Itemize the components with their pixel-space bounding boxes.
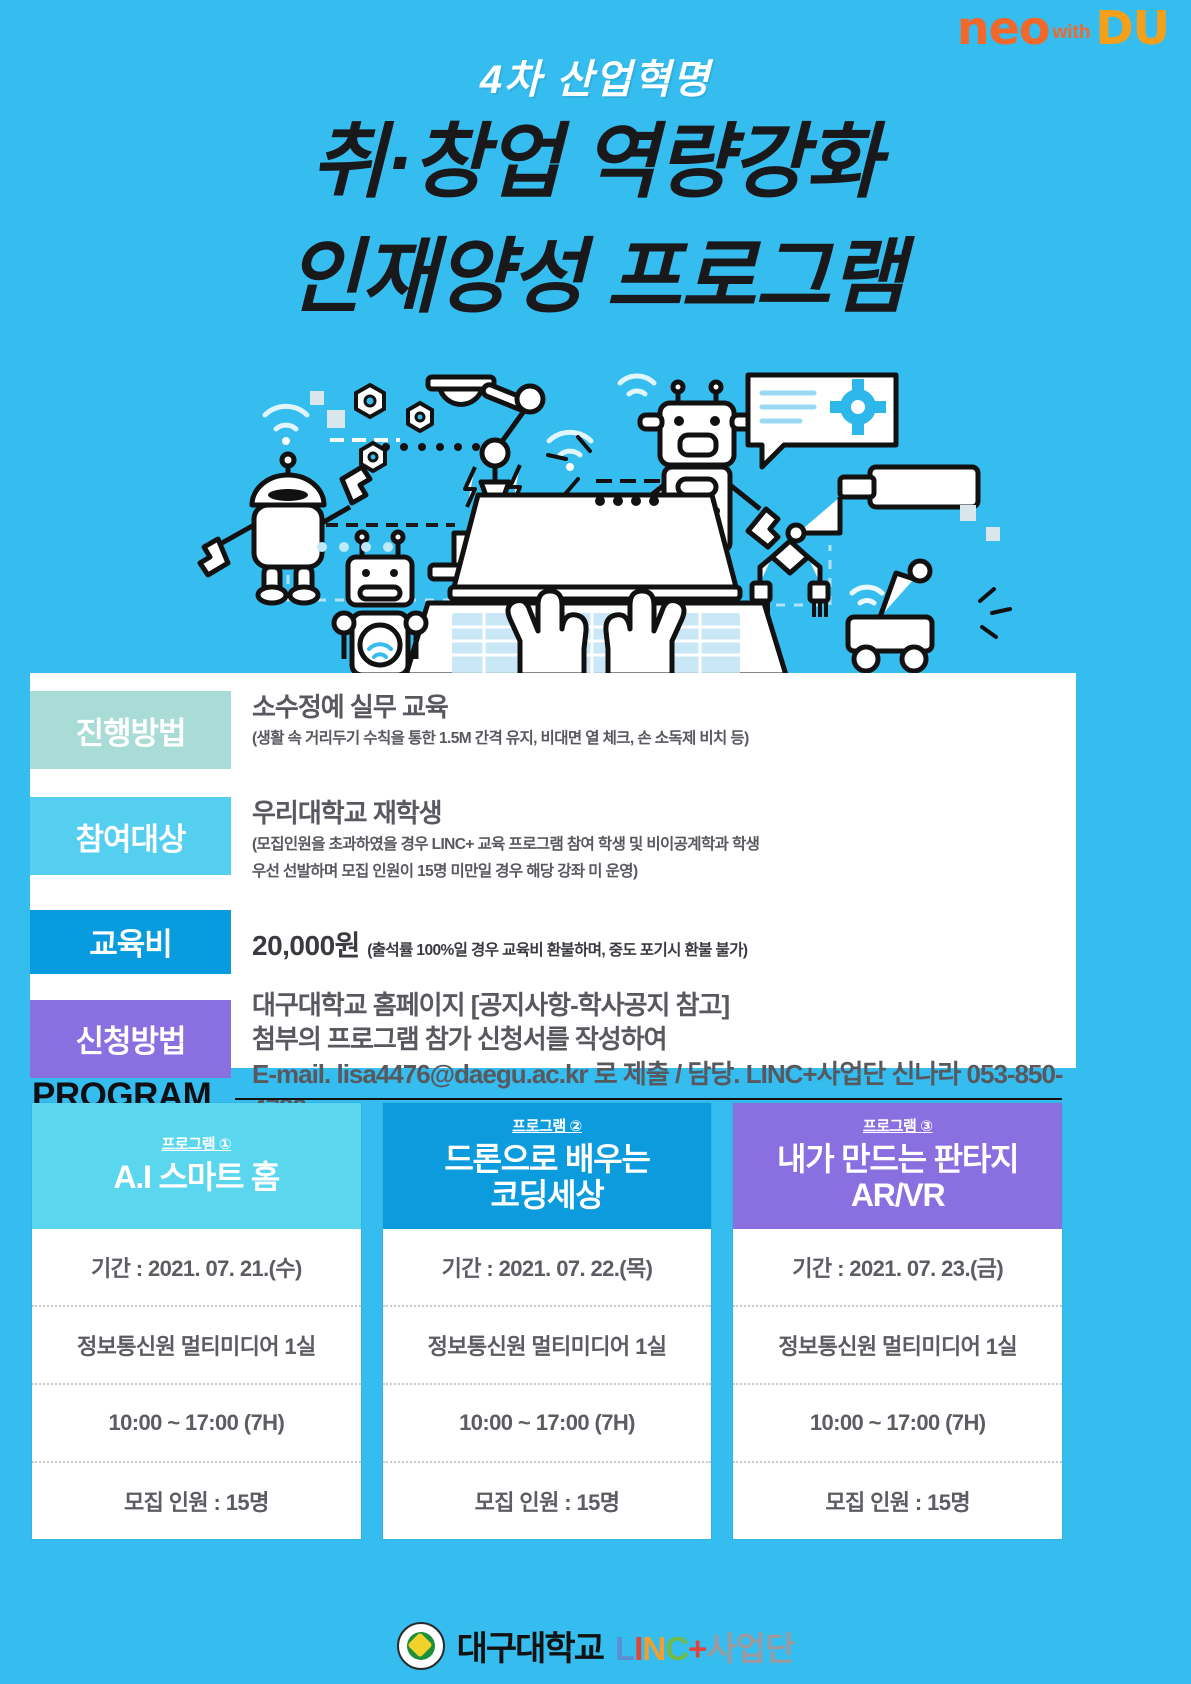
footer-university-name: 대구대학교 xyxy=(457,1621,603,1670)
program-card-1[interactable]: 프로그램 ① A.I 스마트 홈 기간 : 2021. 07. 21.(수) 정… xyxy=(32,1103,361,1539)
card-3-capacity: 모집 인원 : 15명 xyxy=(733,1461,1062,1539)
card-3-kicker: 프로그램 ③ xyxy=(863,1115,933,1136)
card-2-capacity: 모집 인원 : 15명 xyxy=(383,1461,712,1539)
linc-letter-l: L xyxy=(615,1630,634,1667)
tag-apply-wrap: 신청방법 xyxy=(30,1000,231,1078)
card-1-kicker: 프로그램 ① xyxy=(162,1133,232,1154)
tag-target-wrap: 참여대상 xyxy=(30,797,231,875)
industry-4-illustration xyxy=(0,355,1191,675)
card-3-period: 기간 : 2021. 07. 23.(금) xyxy=(733,1229,1062,1305)
tag-target: 참여대상 xyxy=(30,797,231,875)
headline-line-2: 인재양성 프로그램 xyxy=(0,227,1191,330)
card-2-place: 정보통신원 멀티미디어 1실 xyxy=(383,1305,712,1383)
apply-line-2: 첨부의 프로그램 참가 신청서를 작성하여 xyxy=(252,1022,1076,1057)
card-2-time: 10:00 ~ 17:00 (7H) xyxy=(383,1383,712,1461)
poster-headline: 4차 산업혁명 취·창업 역량강화 인재양성 프로그램 xyxy=(0,58,1191,329)
tag-method-wrap: 진행방법 xyxy=(30,691,231,769)
apply-line-1: 대구대학교 홈페이지 [공지사항-학사공지 참고] xyxy=(252,988,1076,1023)
headline-kicker: 4차 산업혁명 xyxy=(0,58,1191,102)
card-1-time: 10:00 ~ 17:00 (7H) xyxy=(32,1383,361,1461)
poster-footer: 대구대학교 LINC+사업단 xyxy=(0,1621,1191,1670)
card-2-head: 프로그램 ② 드론으로 배우는 코딩세상 xyxy=(383,1103,712,1229)
linc-letter-c: C xyxy=(665,1630,688,1667)
program-header-rule xyxy=(235,1098,1062,1100)
card-2-period: 기간 : 2021. 07. 22.(목) xyxy=(383,1229,712,1305)
info-body-target: 우리대학교 재학생 (모집인원을 초과하였을 경우 LINC+ 교육 프로그램 … xyxy=(231,797,1076,884)
linc-suffix-text: 사업단 xyxy=(706,1630,794,1667)
info-row-method: 진행방법 소수정예 실무 교육 (생활 속 거리두기 수칙을 통한 1.5M 간… xyxy=(30,691,1076,769)
target-sub-text-2: 우선 선발하며 모집 인원이 15명 미만일 경우 해당 강좌 미 운영) xyxy=(252,860,1076,884)
program-card-2[interactable]: 프로그램 ② 드론으로 배우는 코딩세상 기간 : 2021. 07. 22.(… xyxy=(383,1103,712,1539)
linc-plus-logo: LINC+사업단 xyxy=(615,1622,794,1670)
fee-amount: 20,000원 xyxy=(252,930,360,961)
daegu-university-seal-icon xyxy=(397,1622,445,1670)
tag-fee: 교육비 xyxy=(30,910,231,974)
program-card-list: 프로그램 ① A.I 스마트 홈 기간 : 2021. 07. 21.(수) 정… xyxy=(32,1103,1062,1539)
card-1-period: 기간 : 2021. 07. 21.(수) xyxy=(32,1229,361,1305)
linc-letter-n: N xyxy=(642,1630,665,1667)
target-main-text: 우리대학교 재학생 xyxy=(252,797,1076,830)
card-2-body: 기간 : 2021. 07. 22.(목) 정보통신원 멀티미디어 1실 10:… xyxy=(383,1229,712,1539)
info-panel: 진행방법 소수정예 실무 교육 (생활 속 거리두기 수칙을 통한 1.5M 간… xyxy=(30,673,1076,1068)
neo-logo-text: neo xyxy=(957,8,1050,49)
card-3-title: 내가 만드는 판타지 AR/VR xyxy=(777,1142,1018,1214)
info-body-method: 소수정예 실무 교육 (생활 속 거리두기 수칙을 통한 1.5M 간격 유지,… xyxy=(231,691,1076,751)
card-1-body: 기간 : 2021. 07. 21.(수) 정보통신원 멀티미디어 1실 10:… xyxy=(32,1229,361,1539)
card-3-body: 기간 : 2021. 07. 23.(금) 정보통신원 멀티미디어 1실 10:… xyxy=(733,1229,1062,1539)
card-2-title: 드론으로 배우는 코딩세상 xyxy=(444,1142,649,1214)
target-sub-text-1: (모집인원을 초과하였을 경우 LINC+ 교육 프로그램 참여 학생 및 비이… xyxy=(252,833,1076,857)
card-1-head: 프로그램 ① A.I 스마트 홈 xyxy=(32,1103,361,1229)
fee-note: (출석률 100%일 경우 교육비 환불하며, 중도 포기시 환불 불가) xyxy=(367,942,747,959)
seal-inner-mark xyxy=(407,1632,435,1660)
method-sub-text: (생활 속 거리두기 수칙을 통한 1.5M 간격 유지, 비대면 열 체크, … xyxy=(252,727,1076,751)
info-row-target: 참여대상 우리대학교 재학생 (모집인원을 초과하였을 경우 LINC+ 교육 … xyxy=(30,797,1076,884)
card-1-place: 정보통신원 멀티미디어 1실 xyxy=(32,1305,361,1383)
tag-fee-wrap: 교육비 xyxy=(30,910,231,974)
poster-root: neo with DU 4차 산업혁명 취·창업 역량강화 인재양성 프로그램 xyxy=(0,0,1191,1684)
tag-method: 진행방법 xyxy=(30,691,231,769)
card-3-place: 정보통신원 멀티미디어 1실 xyxy=(733,1305,1062,1383)
card-2-kicker: 프로그램 ② xyxy=(512,1115,582,1136)
card-1-title: A.I 스마트 홈 xyxy=(114,1160,280,1196)
fee-amount-line: 20,000원 (출석률 100%일 경우 교육비 환불하며, 중도 포기시 환… xyxy=(252,924,1076,964)
card-1-capacity: 모집 인원 : 15명 xyxy=(32,1461,361,1539)
neo-with-du-logo: neo with DU xyxy=(957,8,1169,49)
method-main-text: 소수정예 실무 교육 xyxy=(252,691,1076,724)
with-logo-text: with xyxy=(1052,24,1090,41)
card-3-head: 프로그램 ③ 내가 만드는 판타지 AR/VR xyxy=(733,1103,1062,1229)
program-card-3[interactable]: 프로그램 ③ 내가 만드는 판타지 AR/VR 기간 : 2021. 07. 2… xyxy=(733,1103,1062,1539)
tag-apply: 신청방법 xyxy=(30,1000,231,1078)
linc-plus-sign: + xyxy=(688,1630,706,1667)
info-body-fee: 20,000원 (출석률 100%일 경우 교육비 환불하며, 중도 포기시 환… xyxy=(231,910,1076,964)
du-logo-text: DU xyxy=(1095,8,1169,49)
headline-line-1: 취·창업 역량강화 xyxy=(0,112,1191,215)
card-3-time: 10:00 ~ 17:00 (7H) xyxy=(733,1383,1062,1461)
info-row-fee: 교육비 20,000원 (출석률 100%일 경우 교육비 환불하며, 중도 포… xyxy=(30,910,1076,974)
